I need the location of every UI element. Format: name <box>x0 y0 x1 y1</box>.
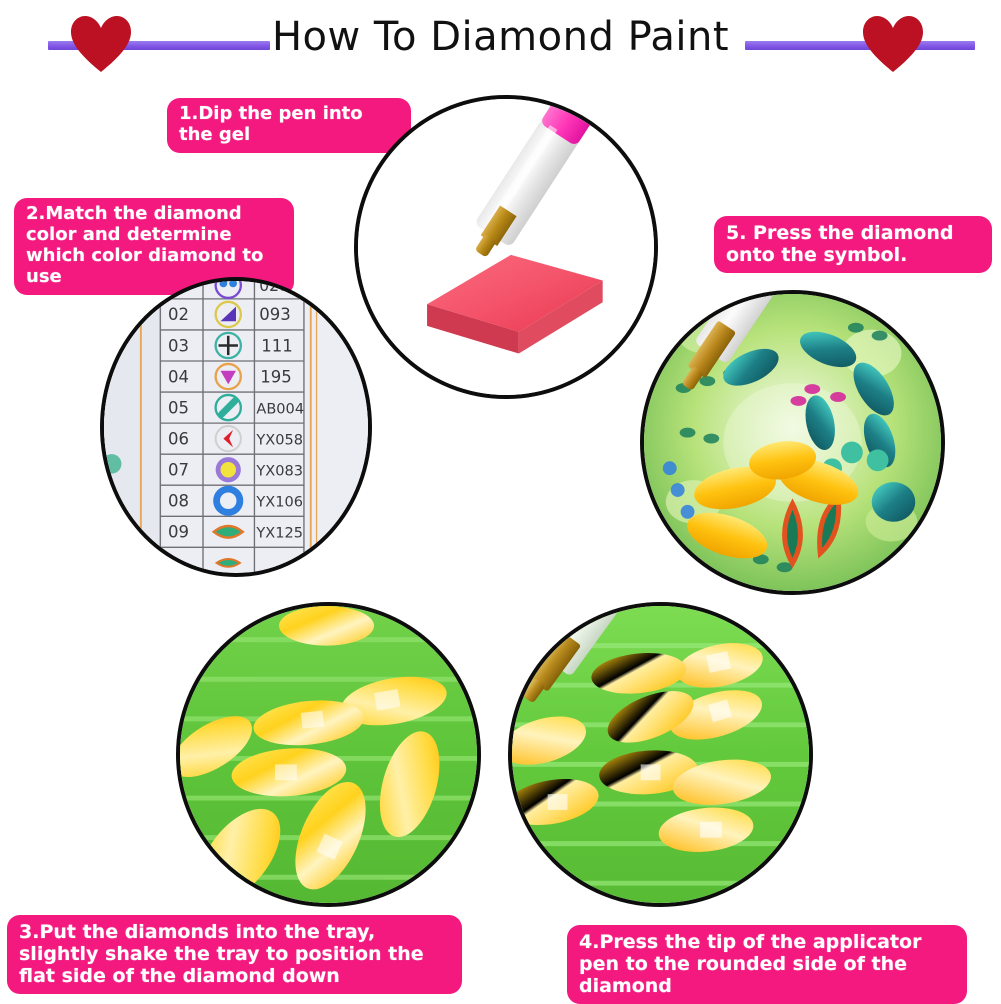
photo-diamonds-in-tray <box>176 602 481 907</box>
svg-text:02: 02 <box>168 305 189 324</box>
svg-text:04: 04 <box>168 367 189 386</box>
svg-text:YX083: YX083 <box>255 463 303 480</box>
green-tray-with-diamonds-illustration <box>180 606 477 903</box>
photo-pen-dipping-into-gel <box>354 95 658 399</box>
photo-pen-picking-up-diamond <box>508 602 813 907</box>
pen-over-tray-illustration <box>512 606 809 903</box>
svg-text:09: 09 <box>168 523 189 542</box>
photo-symbol-chart: 02093 03111 04195 05AB004 06YX058 07YX08… <box>100 277 372 577</box>
svg-text:YX106: YX106 <box>255 494 303 511</box>
page-title: How To Diamond Paint <box>0 14 1001 60</box>
step-4-label: 4.Press the tip of the applicator pen to… <box>567 925 967 1004</box>
symbol-chart-illustration: 02093 03111 04195 05AB004 06YX058 07YX08… <box>104 281 368 573</box>
svg-text:111: 111 <box>261 336 293 355</box>
page-header: How To Diamond Paint <box>0 0 1001 90</box>
step-3-label: 3.Put the diamonds into the tray, slight… <box>7 915 462 994</box>
svg-text:06: 06 <box>168 429 189 448</box>
svg-text:093: 093 <box>259 305 291 324</box>
gel-pad-illustration <box>358 99 654 395</box>
svg-text:08: 08 <box>168 492 189 511</box>
canvas-with-diamonds-illustration <box>644 294 941 591</box>
step-5-label: 5. Press the diamond onto the symbol. <box>714 216 992 273</box>
svg-text:AB004: AB004 <box>256 400 304 417</box>
photo-press-diamond-onto-symbol <box>640 290 945 595</box>
svg-text:05: 05 <box>168 398 189 417</box>
svg-text:YX058: YX058 <box>255 431 303 448</box>
svg-text:03: 03 <box>168 336 189 355</box>
svg-text:07: 07 <box>168 461 189 480</box>
step-1-label: 1.Dip the pen into the gel <box>167 98 411 153</box>
svg-text:YX125: YX125 <box>255 525 303 542</box>
svg-text:195: 195 <box>260 367 292 386</box>
